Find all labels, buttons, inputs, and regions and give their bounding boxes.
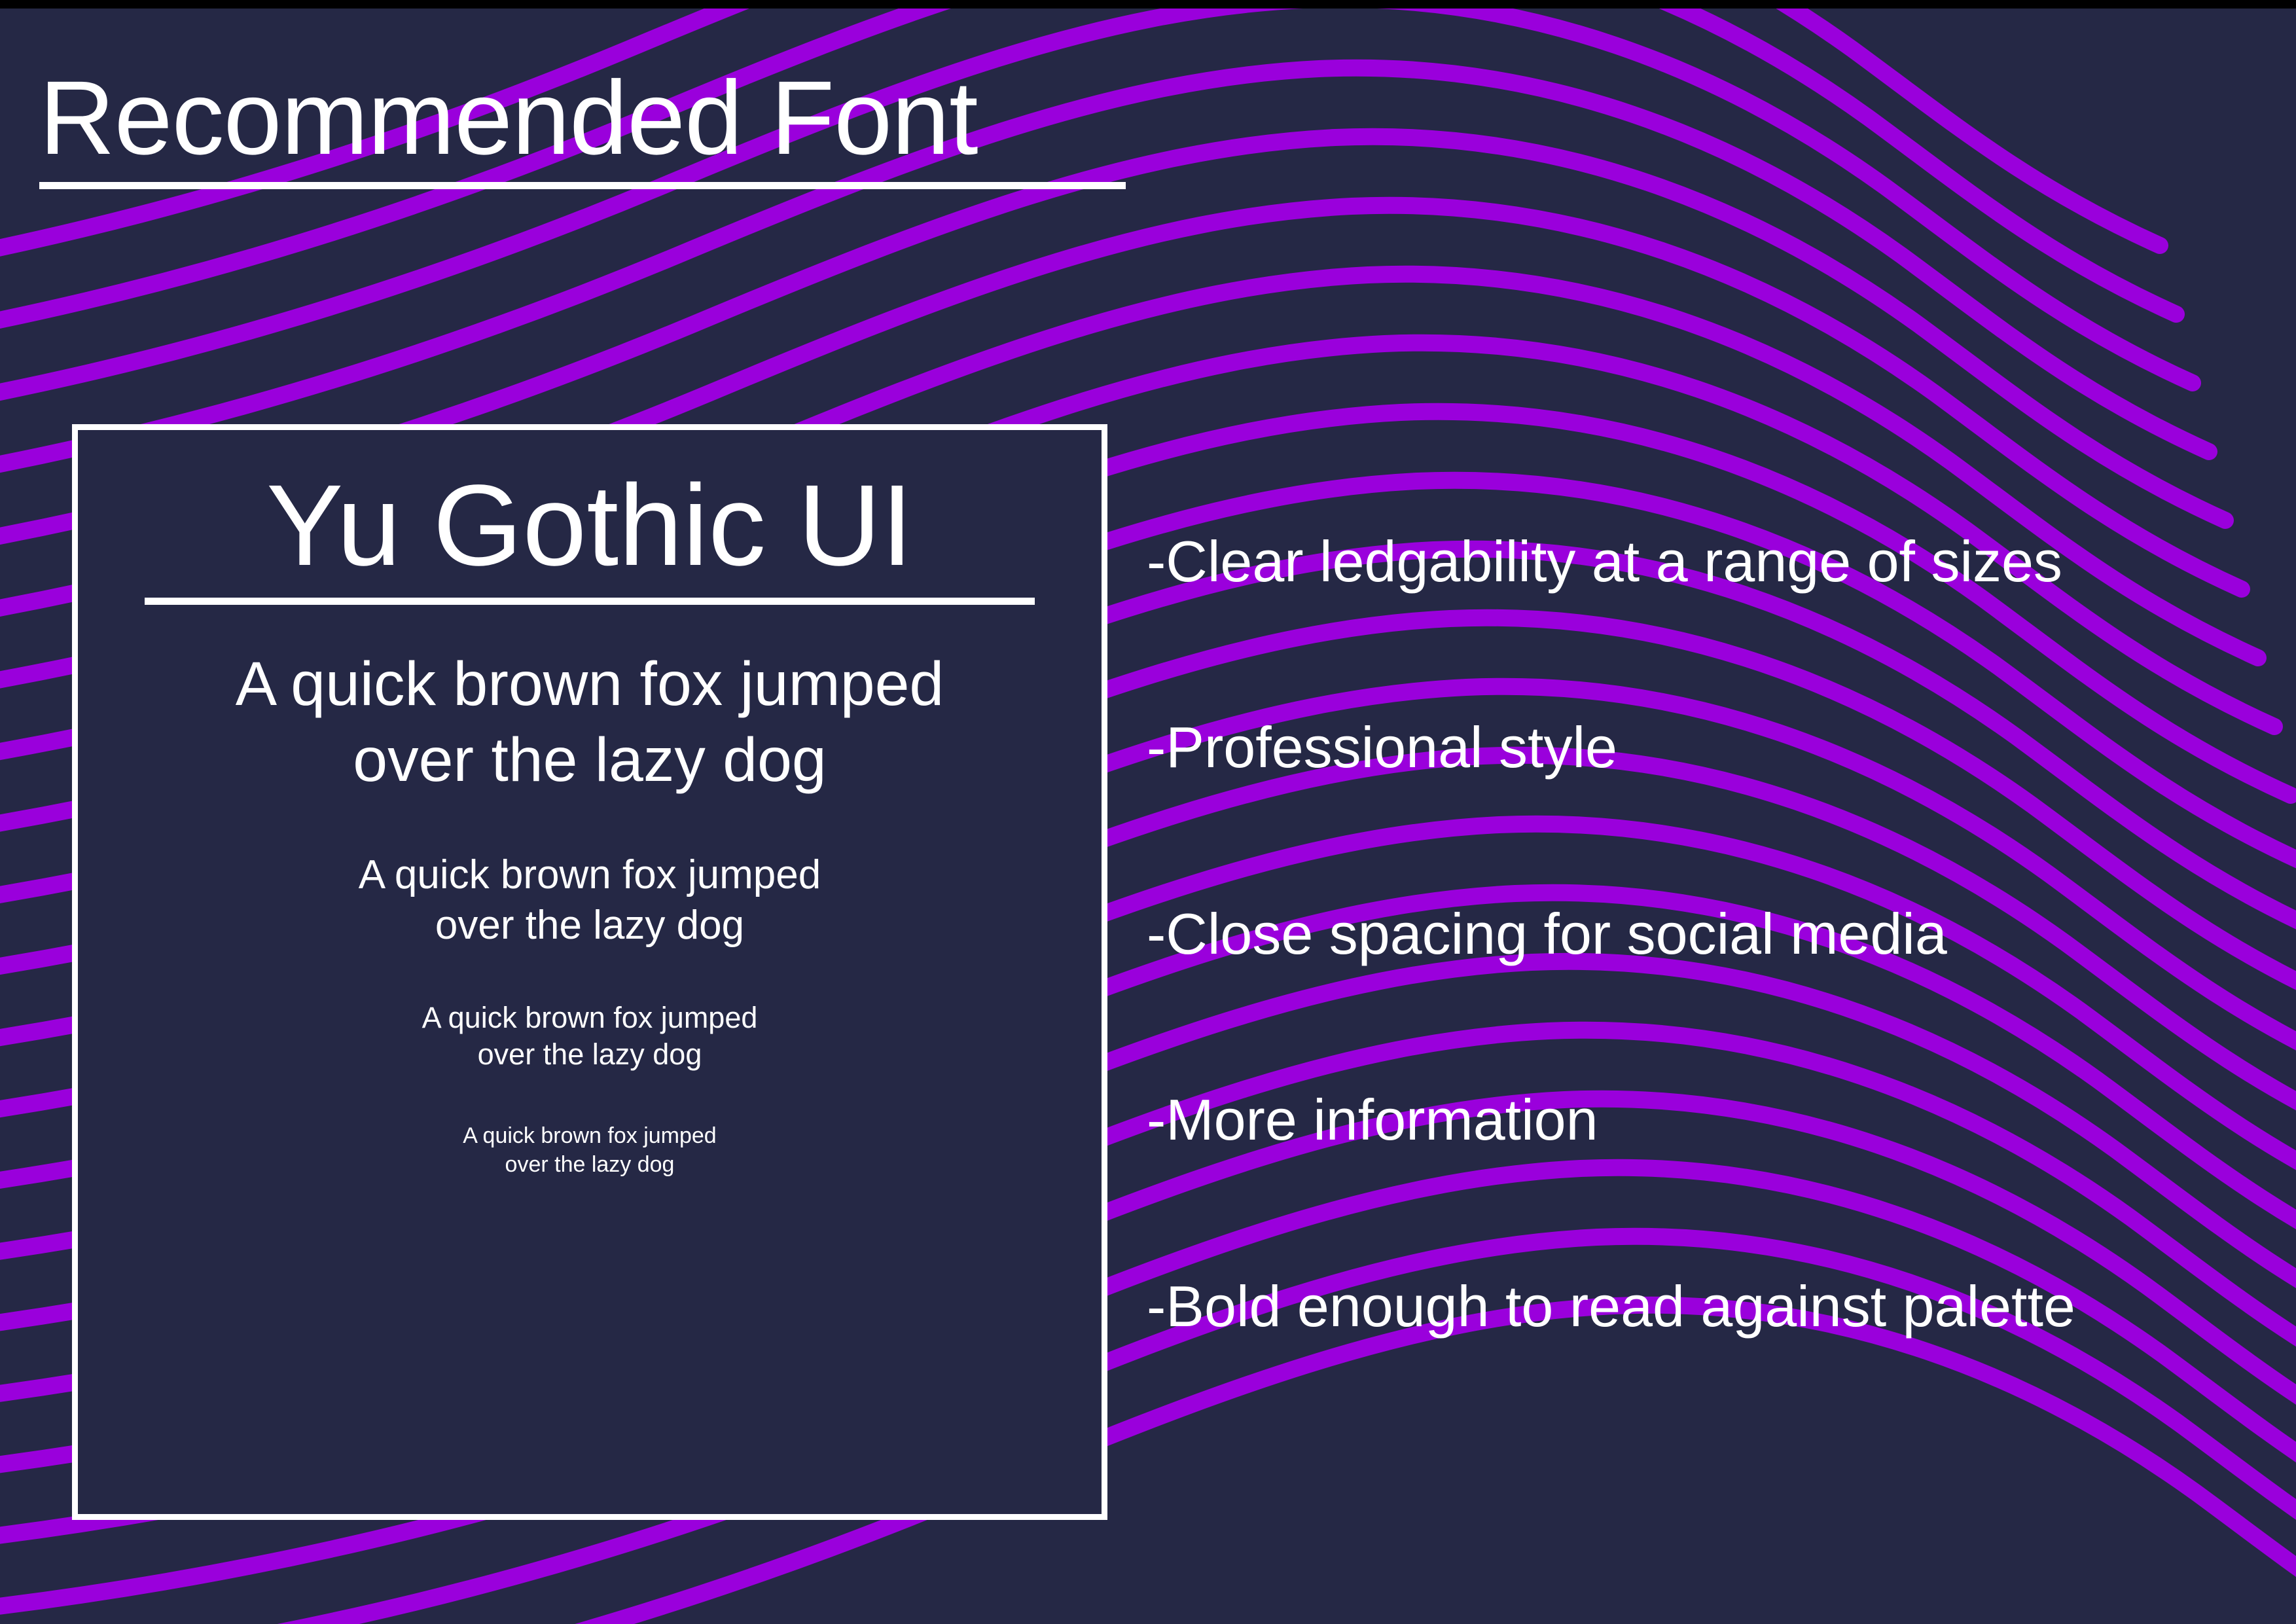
specimen-md-line1: A quick brown fox jumped [197, 1000, 982, 1037]
font-name-underline [145, 598, 1035, 605]
benefit-item-1: -Clear ledgability at a range of sizes [1147, 532, 2296, 592]
slide-canvas: Recommended Font Yu Gothic UI A quick br… [0, 0, 2296, 1624]
benefit-item-5: -Bold enough to read against palette [1147, 1276, 2296, 1337]
page-title-underline [39, 182, 1126, 189]
font-specimen-box: Yu Gothic UI A quick brown fox jumped ov… [72, 424, 1107, 1520]
specimen-lg: A quick brown fox jumped over the lazy d… [164, 850, 1015, 951]
specimen-sm-line2: over the lazy dog [230, 1151, 950, 1180]
specimen-xl-line2: over the lazy dog [125, 723, 1054, 799]
specimen-sm: A quick brown fox jumped over the lazy d… [230, 1122, 950, 1179]
specimen-lg-line1: A quick brown fox jumped [164, 850, 1015, 901]
specimen-xl: A quick brown fox jumped over the lazy d… [125, 647, 1054, 799]
benefit-item-2: -Professional style [1147, 717, 2296, 778]
benefit-item-3: -Close spacing for social media [1147, 904, 2296, 964]
specimen-md-line2: over the lazy dog [197, 1036, 982, 1074]
font-name-label: Yu Gothic UI [266, 468, 913, 594]
benefit-item-4: -More information [1147, 1090, 2296, 1150]
page-title: Recommended Font [39, 65, 1126, 189]
top-black-strip [0, 0, 2296, 9]
benefits-list: -Clear ledgability at a range of sizes -… [1147, 532, 2296, 1337]
specimen-xl-line1: A quick brown fox jumped [125, 647, 1054, 723]
page-title-text: Recommended Font [39, 65, 1126, 179]
specimen-md: A quick brown fox jumped over the lazy d… [197, 1000, 982, 1074]
specimen-sm-line1: A quick brown fox jumped [230, 1122, 950, 1151]
specimen-lg-line2: over the lazy dog [164, 900, 1015, 951]
